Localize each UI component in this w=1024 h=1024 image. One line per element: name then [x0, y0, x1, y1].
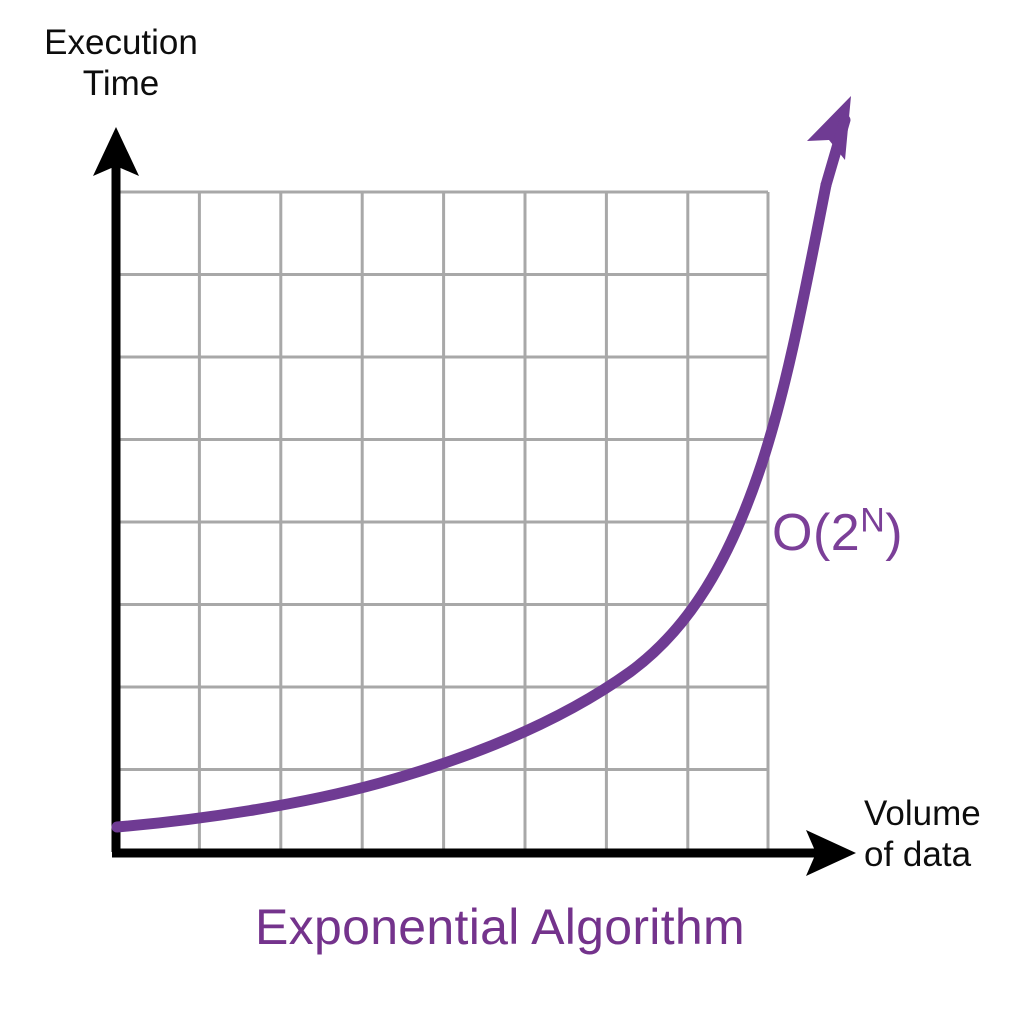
- x-axis-label: Volumeof data: [864, 793, 1024, 876]
- exponential-algorithm-chart: ExecutionTime Volumeof data O(2N) Expone…: [0, 0, 1024, 1024]
- complexity-base: O(2: [772, 504, 860, 562]
- x-axis-label-line1: Volume: [864, 794, 981, 833]
- curve-path: [117, 185, 826, 827]
- complexity-annotation: O(2N): [772, 503, 903, 563]
- x-axis: [112, 830, 856, 876]
- grid-lines: [117, 192, 768, 852]
- y-axis-label-line1: Execution: [44, 23, 198, 62]
- chart-title: Exponential Algorithm: [0, 898, 1000, 956]
- complexity-exponent: N: [860, 502, 885, 540]
- y-axis-label: ExecutionTime: [16, 22, 226, 105]
- y-axis-label-line2: Time: [83, 64, 159, 103]
- exponential-curve: [117, 96, 851, 827]
- complexity-close: ): [885, 504, 903, 562]
- x-axis-label-line2: of data: [864, 835, 971, 874]
- y-axis: [93, 127, 139, 852]
